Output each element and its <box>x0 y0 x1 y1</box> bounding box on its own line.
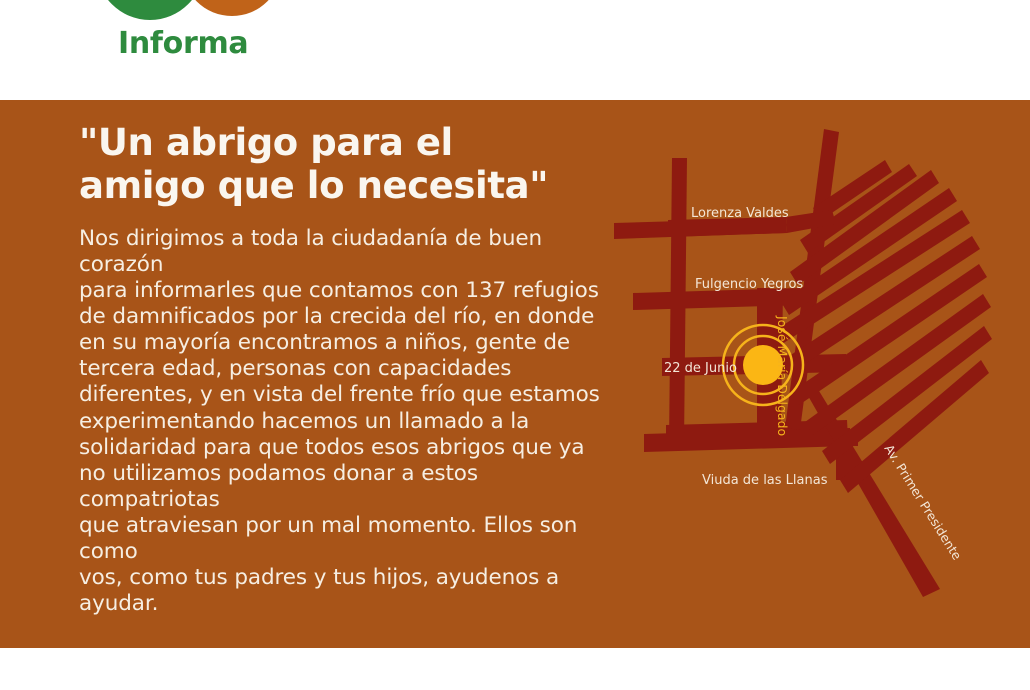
bottom-band <box>0 648 1030 690</box>
logo-circle-orange-icon <box>182 0 282 16</box>
main-panel: "Un abrigo para el amigo que lo necesita… <box>0 100 1030 648</box>
street-label-jose-maria-delgado: José María Delgado <box>775 315 790 436</box>
street-vertical-west <box>669 158 687 445</box>
logo-wordmark: Informa <box>118 26 248 61</box>
map-svg: Lorenza Valdes Fulgencio Yegros 22 de Ju… <box>600 100 1030 648</box>
location-map: Lorenza Valdes Fulgencio Yegros 22 de Ju… <box>600 100 1030 648</box>
poster-root: Informa "Un abrigo para el amigo que lo … <box>0 0 1030 690</box>
street-label-fulgencio-yegros: Fulgencio Yegros <box>695 277 803 292</box>
street-label-lorenza-valdes: Lorenza Valdes <box>691 206 789 221</box>
street-label-viuda-de-las-llanas: Viuda de las Llanas <box>702 473 828 488</box>
headline: "Un abrigo para el amigo que lo necesita… <box>79 122 604 208</box>
text-column: "Un abrigo para el amigo que lo necesita… <box>79 122 604 648</box>
logo-circle-green-icon <box>96 0 204 20</box>
logo-band: Informa <box>0 0 1030 100</box>
body-copy: Nos dirigimos a toda la ciudadanía de bu… <box>79 226 604 618</box>
street-label-22-de-junio: 22 de Junio <box>664 361 737 376</box>
